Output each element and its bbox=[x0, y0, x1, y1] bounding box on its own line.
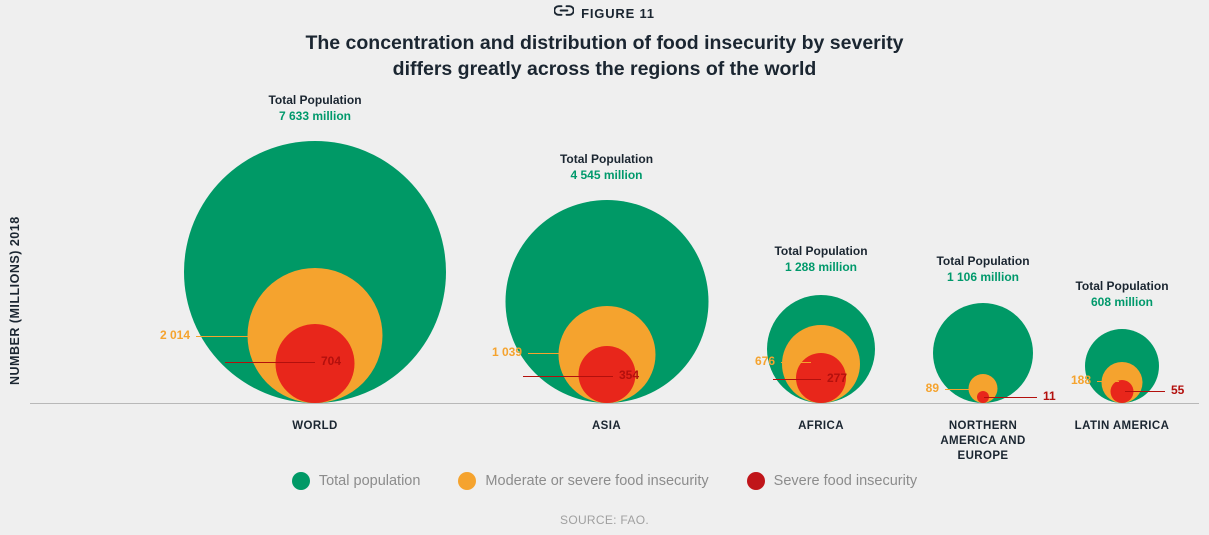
callout-value: 11 bbox=[1043, 389, 1056, 403]
legend-item-moderate-or-severe[interactable]: Moderate or severe food insecurity bbox=[458, 472, 708, 490]
total-population-value: 1 106 million bbox=[936, 269, 1029, 285]
total-population-label: Total Population bbox=[1075, 278, 1168, 294]
total-population-label: Total Population bbox=[268, 92, 361, 108]
total-population-value: 4 545 million bbox=[560, 167, 653, 183]
bubble-chart-plot: Total Population 7 633 million WORLD Tot… bbox=[0, 0, 1209, 535]
callout-leader-line bbox=[984, 397, 1037, 398]
callout-value: 704 bbox=[321, 354, 341, 368]
callout-value: 676 bbox=[755, 354, 775, 368]
callout-value: 1 039 bbox=[492, 345, 522, 359]
callout-leader-line bbox=[945, 389, 972, 390]
group-latin-america-header: Total Population 608 million bbox=[1075, 278, 1168, 310]
callout-leader-line bbox=[1097, 381, 1119, 382]
group-world-header: Total Population 7 633 million bbox=[268, 92, 361, 124]
legend-label: Severe food insecurity bbox=[774, 473, 917, 489]
callout-value: 89 bbox=[926, 381, 939, 395]
group-northern-america-and-europe: Total Population 1 106 million NORTHERN … bbox=[933, 0, 1033, 470]
x-label-asia: ASIA bbox=[592, 419, 621, 434]
legend-swatch-icon bbox=[292, 472, 310, 490]
group-asia-header: Total Population 4 545 million bbox=[560, 151, 653, 183]
callout-value: 188 bbox=[1071, 373, 1091, 387]
total-population-label: Total Population bbox=[560, 151, 653, 167]
group-northern-america-and-europe-header: Total Population 1 106 million bbox=[936, 253, 1029, 285]
group-africa: Total Population 1 288 million AFRICA bbox=[767, 0, 875, 470]
legend-label: Moderate or severe food insecurity bbox=[485, 473, 708, 489]
group-asia: Total Population 4 545 million ASIA bbox=[505, 0, 708, 470]
callout-leader-line bbox=[773, 379, 821, 380]
total-population-label: Total Population bbox=[774, 243, 867, 259]
legend-swatch-icon bbox=[747, 472, 765, 490]
group-africa-header: Total Population 1 288 million bbox=[774, 243, 867, 275]
x-label-world: WORLD bbox=[292, 419, 337, 434]
callout-leader-line bbox=[528, 353, 564, 354]
callout-leader-line bbox=[225, 362, 315, 363]
source-note: SOURCE: FAO. bbox=[0, 513, 1209, 527]
callout-leader-line bbox=[196, 336, 254, 337]
group-world: Total Population 7 633 million WORLD bbox=[184, 0, 446, 470]
total-population-value: 7 633 million bbox=[268, 108, 361, 124]
callout-value: 55 bbox=[1171, 383, 1184, 397]
x-label-africa: AFRICA bbox=[798, 419, 844, 434]
legend-item-severe[interactable]: Severe food insecurity bbox=[747, 472, 917, 490]
x-label-latin-america: LATIN AMERICA bbox=[1075, 419, 1170, 434]
legend-swatch-icon bbox=[458, 472, 476, 490]
bubble-severe[interactable] bbox=[276, 324, 355, 403]
callout-leader-line bbox=[523, 376, 613, 377]
callout-leader-line bbox=[1125, 391, 1165, 392]
total-population-value: 608 million bbox=[1075, 294, 1168, 310]
chart-legend: Total population Moderate or severe food… bbox=[0, 472, 1209, 490]
callout-leader-line bbox=[781, 362, 811, 363]
callout-value: 277 bbox=[827, 371, 847, 385]
legend-item-total-population[interactable]: Total population bbox=[292, 472, 421, 490]
group-latin-america: Total Population 608 million LATIN AMERI… bbox=[1085, 0, 1159, 470]
total-population-label: Total Population bbox=[936, 253, 1029, 269]
legend-label: Total population bbox=[319, 473, 421, 489]
callout-value: 354 bbox=[619, 368, 639, 382]
callout-value: 2 014 bbox=[160, 328, 190, 342]
x-label-northern-america-and-europe: NORTHERN AMERICA AND EUROPE bbox=[923, 419, 1043, 464]
total-population-value: 1 288 million bbox=[774, 259, 867, 275]
